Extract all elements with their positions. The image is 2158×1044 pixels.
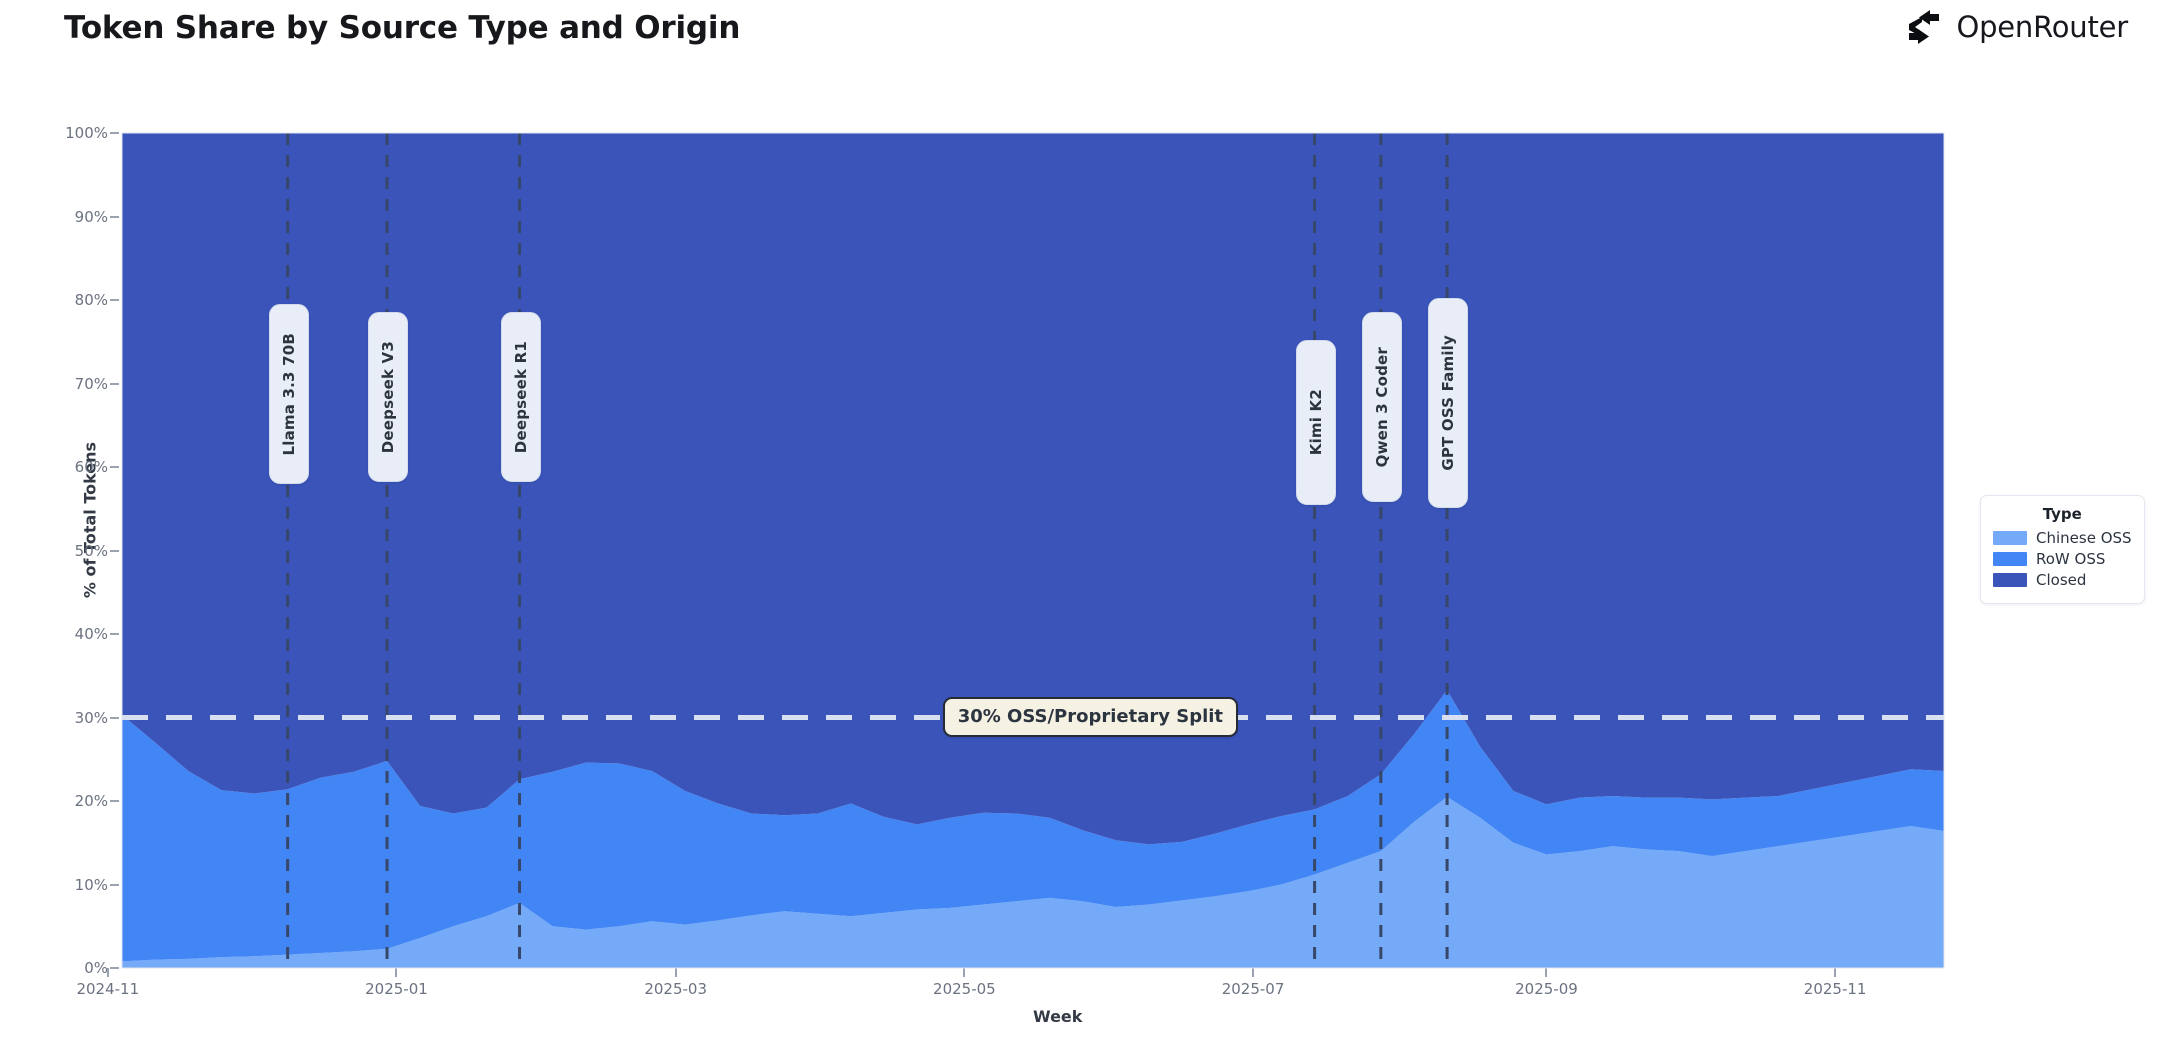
event-pill-label: Llama 3.3 70B xyxy=(280,333,298,456)
x-tick-mark xyxy=(1545,968,1547,977)
legend-item-label: Chinese OSS xyxy=(2036,529,2132,547)
event-pill-label: Deepseek R1 xyxy=(512,341,530,453)
x-tick-label: 2025-11 xyxy=(1804,980,1867,998)
event-pill-label: GPT OSS Family xyxy=(1439,335,1457,471)
event-pill-label: Kimi K2 xyxy=(1307,389,1325,455)
area-series-group xyxy=(122,133,1944,968)
x-tick-label: 2025-09 xyxy=(1515,980,1578,998)
x-tick-mark xyxy=(1834,968,1836,977)
event-pill-deepseek-v3[interactable]: Deepseek V3 xyxy=(368,312,408,482)
x-tick-label: 2025-07 xyxy=(1222,980,1285,998)
event-pill-kimi-k2[interactable]: Kimi K2 xyxy=(1296,340,1336,505)
legend-title: Type xyxy=(1993,505,2132,523)
event-pill-label: Qwen 3 Coder xyxy=(1373,347,1391,467)
legend-swatch-icon xyxy=(1993,573,2027,587)
legend: Type Chinese OSSRoW OSSClosed xyxy=(1980,495,2145,604)
legend-item-row-oss[interactable]: RoW OSS xyxy=(1993,550,2132,568)
legend-item-closed[interactable]: Closed xyxy=(1993,571,2132,589)
x-tick-label: 2024-11 xyxy=(76,980,139,998)
legend-swatch-icon xyxy=(1993,552,2027,566)
chart-page: Token Share by Source Type and Origin Op… xyxy=(0,0,2158,1044)
x-tick-label: 2025-01 xyxy=(365,980,428,998)
legend-item-label: RoW OSS xyxy=(2036,550,2105,568)
area-series-closed xyxy=(122,133,1944,844)
event-pill-deepseek-r1[interactable]: Deepseek R1 xyxy=(501,312,541,482)
x-tick-mark xyxy=(107,968,109,977)
legend-item-chinese-oss[interactable]: Chinese OSS xyxy=(1993,529,2132,547)
stacked-area-plot xyxy=(122,133,1944,968)
x-tick-mark xyxy=(675,968,677,977)
x-tick-mark xyxy=(395,968,397,977)
event-pill-gpt-oss-family[interactable]: GPT OSS Family xyxy=(1428,298,1468,508)
legend-item-label: Closed xyxy=(2036,571,2086,589)
threshold-annotation-label: 30% OSS/Proprietary Split xyxy=(943,697,1238,737)
x-tick-label: 2025-05 xyxy=(933,980,996,998)
event-pill-label: Deepseek V3 xyxy=(379,341,397,453)
event-pill-llama-3-3-70b[interactable]: Llama 3.3 70B xyxy=(269,304,309,484)
x-tick-label: 2025-03 xyxy=(644,980,707,998)
legend-swatch-icon xyxy=(1993,531,2027,545)
x-tick-mark xyxy=(1252,968,1254,977)
x-tick-mark xyxy=(963,968,965,977)
event-pill-qwen-3-coder[interactable]: Qwen 3 Coder xyxy=(1362,312,1402,502)
